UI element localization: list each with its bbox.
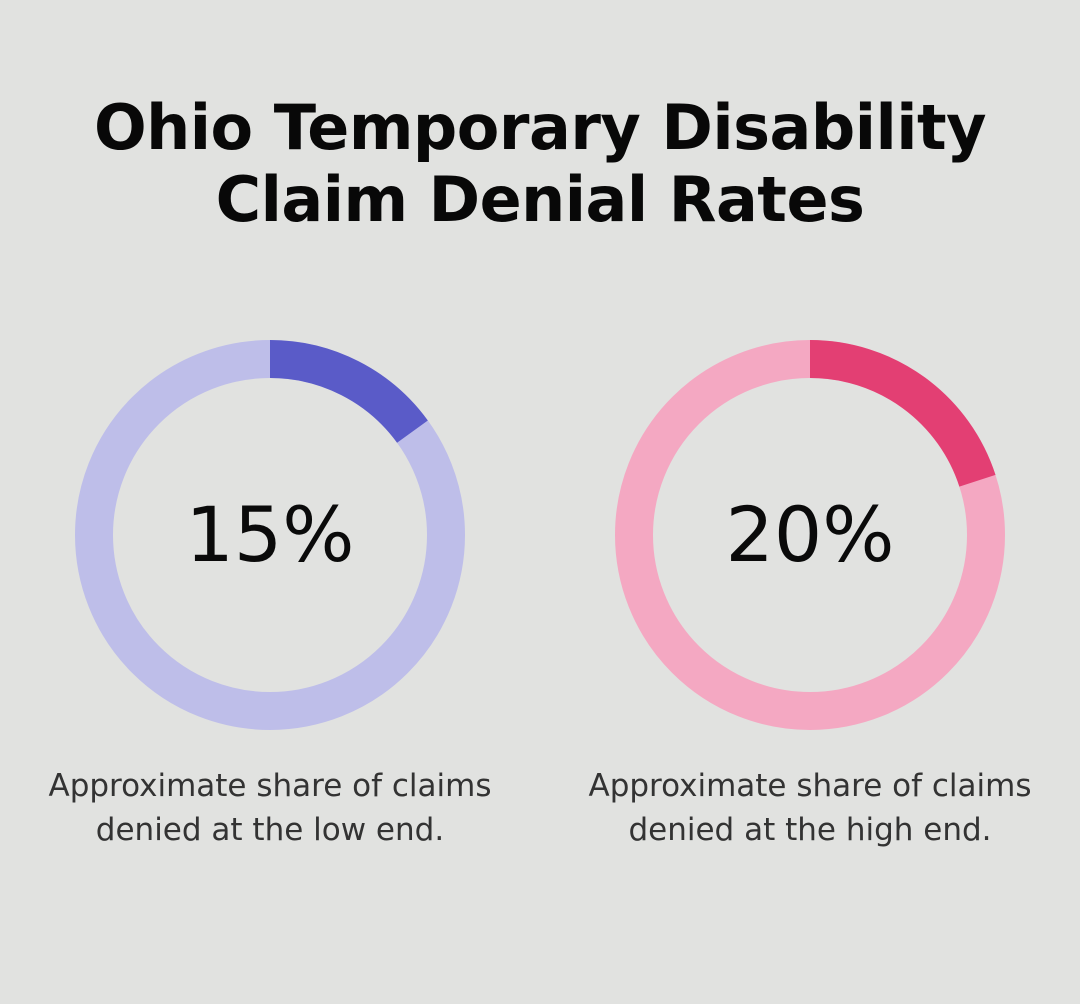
donut-caption-low: Approximate share of claims denied at th… <box>35 764 505 852</box>
donut-panel-high: 20% Approximate share of claims denied a… <box>540 340 1080 852</box>
donut-panel-low: 15% Approximate share of claims denied a… <box>0 340 540 852</box>
donut-value-high: 20% <box>726 497 895 573</box>
page-title-line-1: Ohio Temporary Disability <box>40 92 1040 164</box>
page-title-line-2: Claim Denial Rates <box>40 164 1040 236</box>
donut-value-low: 15% <box>186 497 355 573</box>
donut-panels: 15% Approximate share of claims denied a… <box>0 340 1080 852</box>
donut-chart-low: 15% <box>75 340 465 730</box>
page-title: Ohio Temporary Disability Claim Denial R… <box>0 92 1080 236</box>
donut-caption-high: Approximate share of claims denied at th… <box>575 764 1045 852</box>
donut-chart-high: 20% <box>615 340 1005 730</box>
infographic-canvas: Ohio Temporary Disability Claim Denial R… <box>0 0 1080 1004</box>
